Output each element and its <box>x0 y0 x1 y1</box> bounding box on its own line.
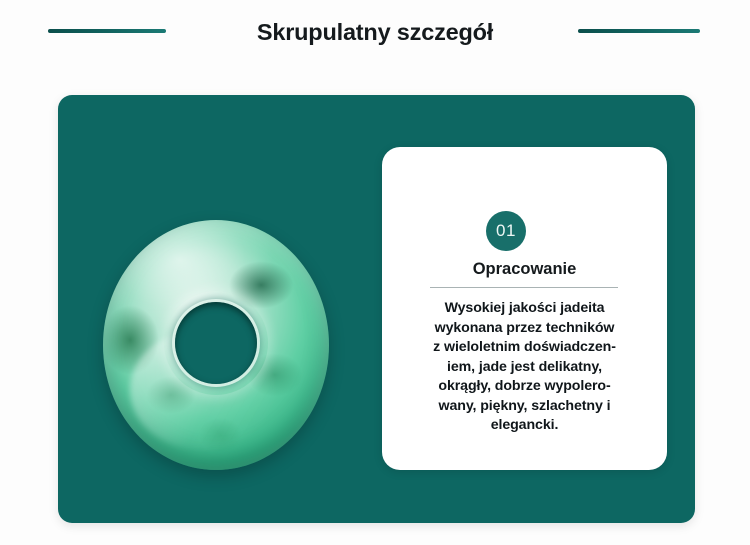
feature-panel: 01 Opracowanie Wysokiej jakości jadeita … <box>58 95 695 523</box>
body-line: Wysokiej jakości jadeita <box>396 299 653 319</box>
jade-ring-image <box>103 220 329 470</box>
page-header: Skrupulatny szczegół <box>0 0 750 80</box>
body-line: wany, piękny, szlachetny i <box>396 397 653 417</box>
step-number-badge: 01 <box>486 211 526 251</box>
info-card: 01 Opracowanie Wysokiej jakości jadeita … <box>382 147 667 470</box>
body-line: okrągły, dobrze wypolero- <box>396 377 653 397</box>
body-line: z wieloletnim doświadczen- <box>396 338 653 358</box>
body-line: wykonana przez techników <box>396 319 653 339</box>
jade-ring-hole <box>175 302 257 384</box>
info-card-title: Opracowanie <box>382 260 667 279</box>
header-rule-right-decoration <box>578 29 700 33</box>
info-card-body: Wysokiej jakości jadeita wykonana przez … <box>396 299 653 436</box>
info-card-divider <box>430 287 618 288</box>
body-line: elegancki. <box>396 416 653 436</box>
body-line: iem, jade jest delikatny, <box>396 358 653 378</box>
